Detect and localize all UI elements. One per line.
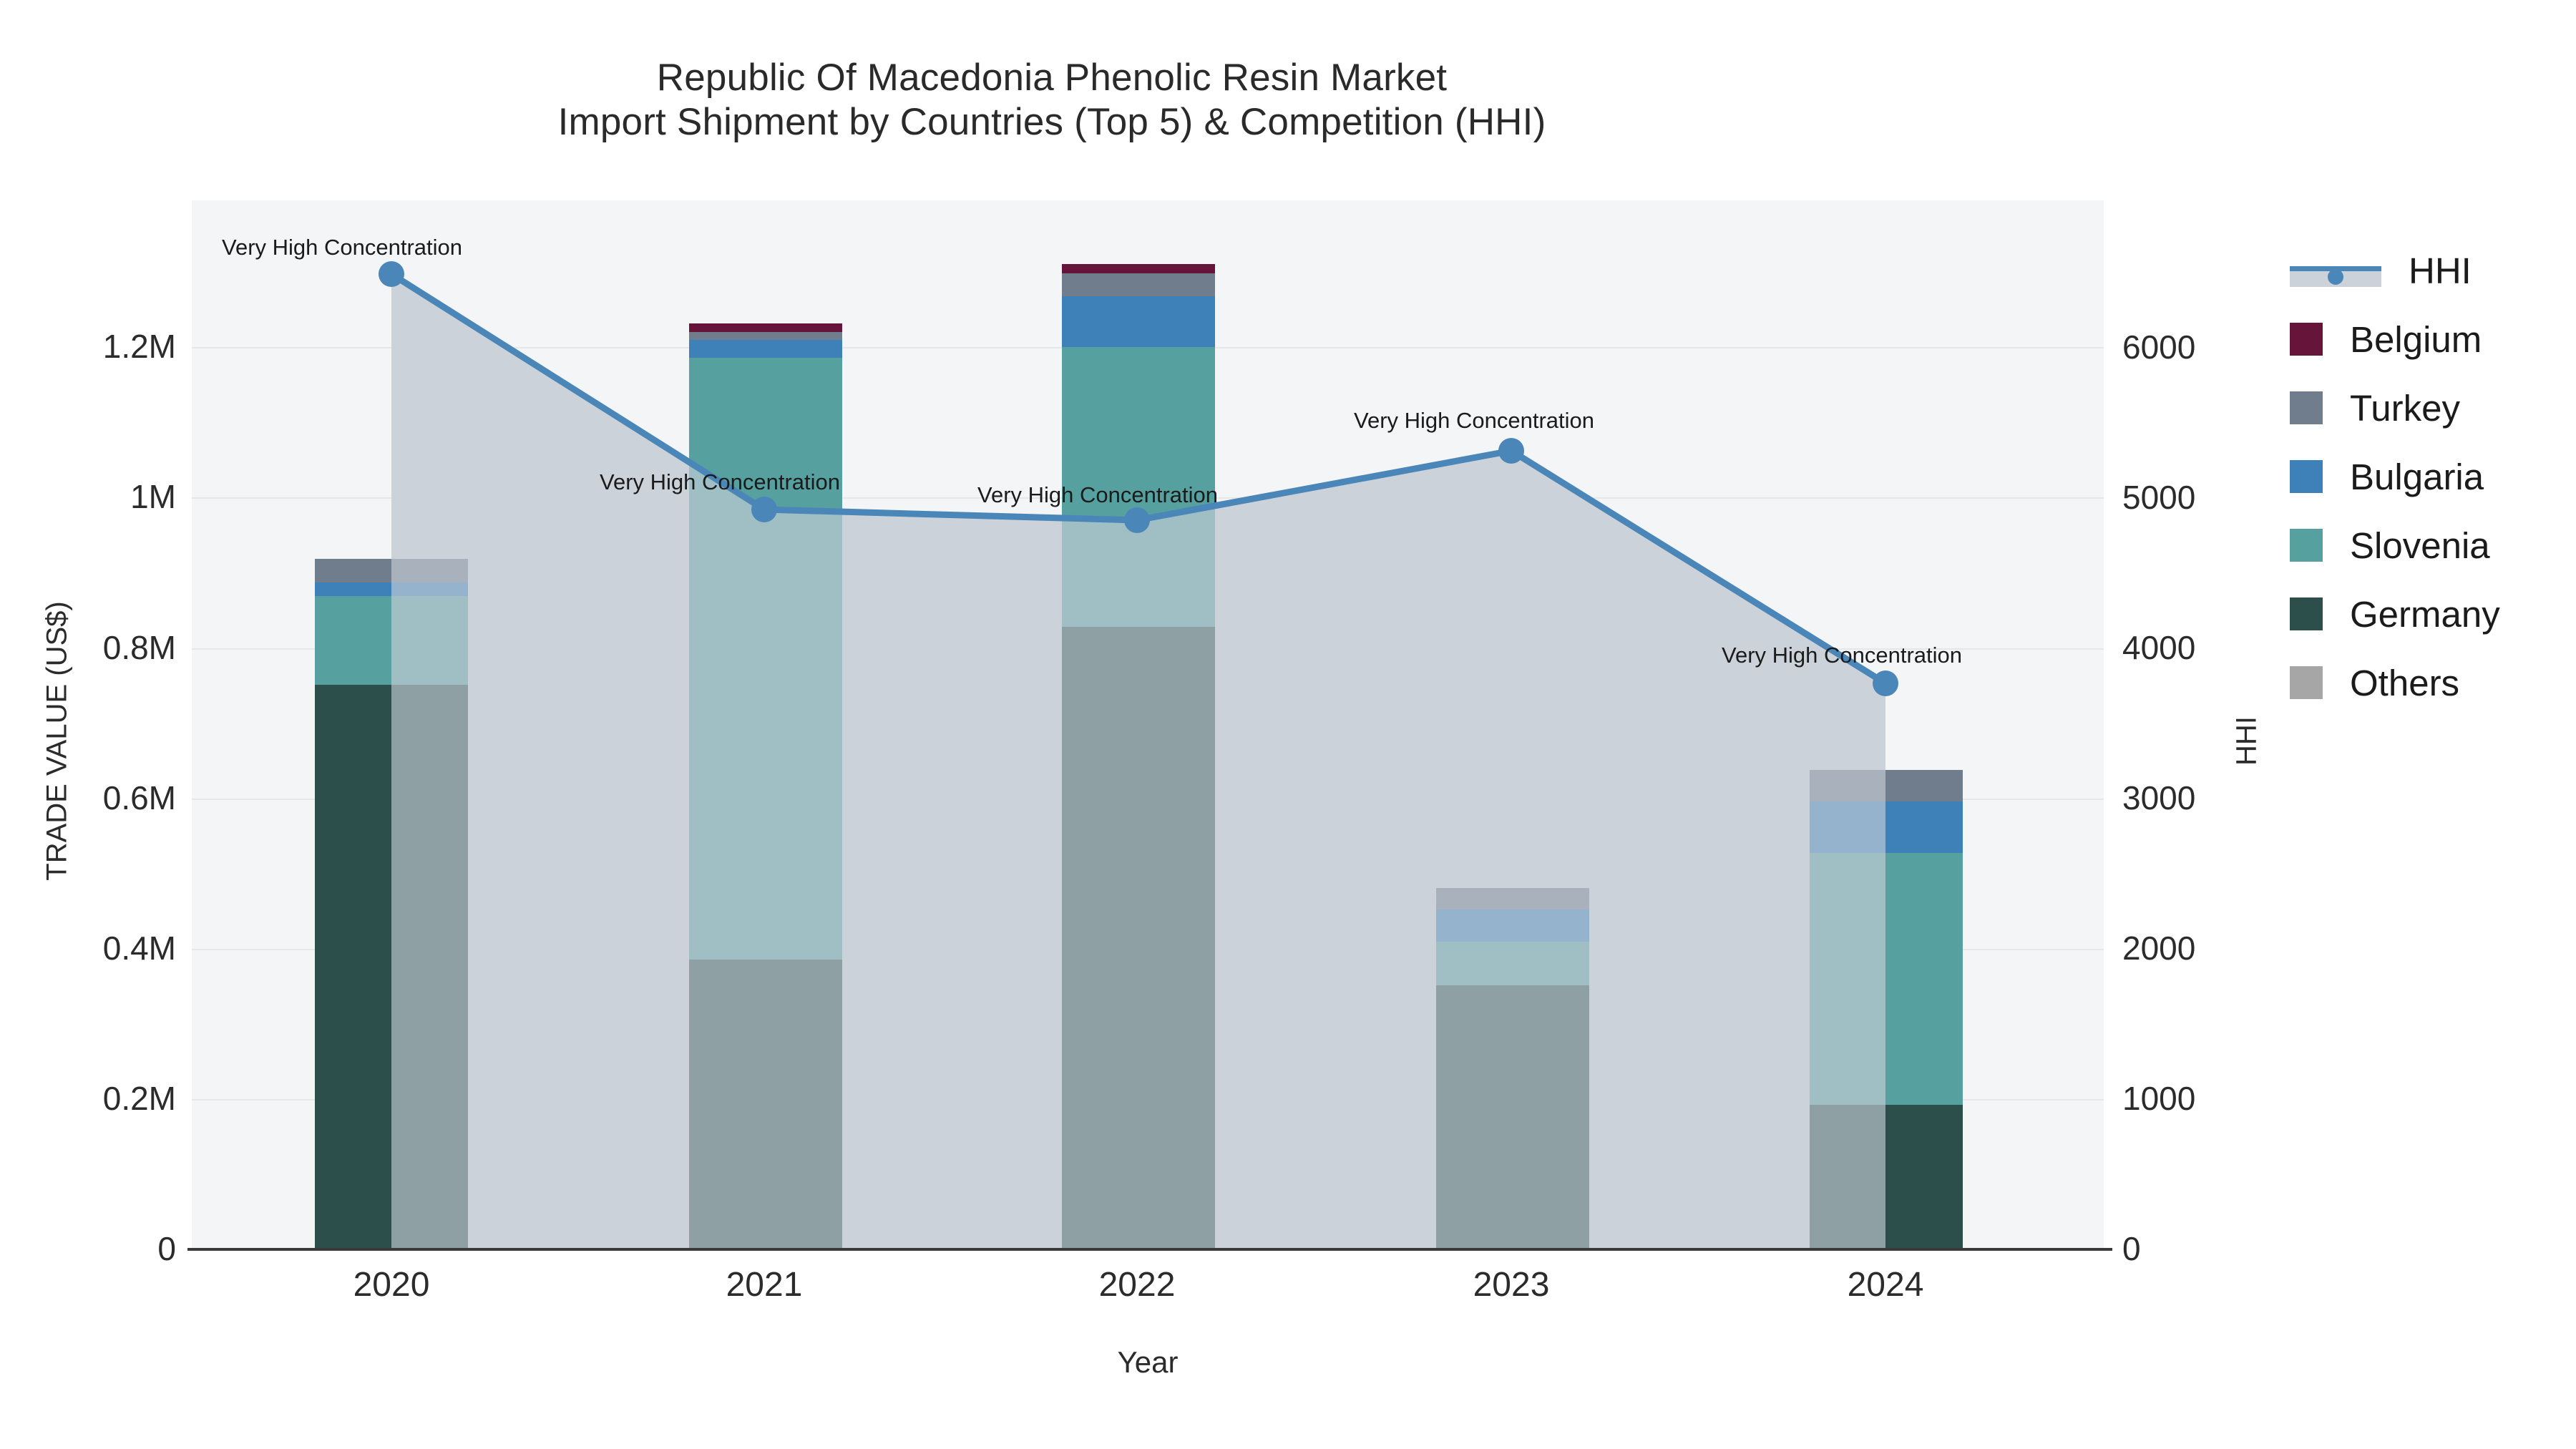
x-axis-line [187,1248,2112,1251]
annotation-2024: Very High Concentration [1722,643,1962,668]
bar-segment-turkey[interactable] [1810,770,1963,801]
bar-segment-germany[interactable] [1436,985,1589,1249]
y-tick-right-label: 3000 [2111,779,2195,817]
chart-title-block: Republic Of Macedonia Phenolic Resin Mar… [0,56,2104,145]
legend-line-key-icon [2290,254,2381,287]
legend-label: Others [2350,665,2459,701]
bar-group-2022[interactable] [1062,264,1215,1249]
y-axis-left-title: TRADE VALUE (US$) [42,591,74,892]
bar-segment-bulgaria[interactable] [689,340,842,358]
bar-segment-slovenia[interactable] [1436,942,1589,985]
y-tick-right-label: 0 [2111,1229,2141,1268]
annotation-2023: Very High Concentration [1354,408,1594,434]
bar-segment-turkey[interactable] [1062,273,1215,296]
bar-segment-belgium[interactable] [689,323,842,332]
bar-segment-bulgaria[interactable] [1436,909,1589,942]
y-axis-right-title-host: HHI [2225,200,2268,1249]
legend-item-others[interactable]: Others [2290,648,2500,717]
legend-label: Turkey [2350,390,2460,426]
y-tick-left-label: 0 [157,1229,187,1268]
y-axis-left-title-host: TRADE VALUE (US$) [21,200,64,1249]
y-tick-left-label: 1M [130,477,187,516]
bar-group-2021[interactable] [689,323,842,1249]
bar-group-2023[interactable] [1436,888,1589,1249]
legend-item-germany[interactable]: Germany [2290,580,2500,648]
bar-series-container [192,200,2104,1249]
y-tick-right-label: 1000 [2111,1079,2195,1118]
legend-swatch-icon [2290,391,2323,424]
legend-swatch-icon [2290,529,2323,562]
y-axis-right-ticks: 6000 5000 4000 3000 2000 1000 0 [2111,0,2326,1449]
chart-subtitle: Import Shipment by Countries (Top 5) & C… [0,100,2104,145]
annotation-2022: Very High Concentration [977,482,1218,508]
annotation-2021: Very High Concentration [600,469,840,495]
bar-segment-germany[interactable] [315,685,468,1249]
bar-segment-germany[interactable] [1810,1105,1963,1249]
x-tick-label: 2024 [1848,1265,1924,1304]
bar-group-2020[interactable] [315,559,468,1249]
x-axis-title: Year [192,1345,2104,1380]
legend-label: Germany [2350,596,2500,633]
bar-segment-slovenia[interactable] [689,358,842,960]
x-tick-label: 2020 [353,1265,430,1304]
bar-group-2024[interactable] [1810,770,1963,1249]
legend-label: Slovenia [2350,527,2490,564]
chart-figure: Republic Of Macedonia Phenolic Resin Mar… [0,0,2576,1449]
y-tick-right-label: 5000 [2111,478,2195,517]
y-tick-right-label: 4000 [2111,628,2195,667]
bar-segment-turkey[interactable] [689,332,842,340]
legend-swatch-icon [2290,460,2323,493]
bar-segment-bulgaria[interactable] [1062,296,1215,347]
y-tick-right-label: 2000 [2111,929,2195,967]
bar-segment-bulgaria[interactable] [1810,801,1963,853]
bar-segment-bulgaria[interactable] [315,582,468,596]
legend-swatch-icon [2290,597,2323,630]
legend-label: HHI [2409,253,2472,289]
bar-segment-germany[interactable] [689,960,842,1249]
bar-segment-slovenia[interactable] [1810,853,1963,1105]
x-tick-label: 2021 [726,1265,803,1304]
x-tick-label: 2022 [1099,1265,1176,1304]
legend-swatch-icon [2290,666,2323,699]
y-tick-left-label: 0.2M [103,1079,187,1118]
y-tick-left-label: 0.6M [103,779,187,817]
y-tick-left-label: 0.8M [103,628,187,667]
legend-label: Bulgaria [2350,459,2484,495]
legend-item-bulgaria[interactable]: Bulgaria [2290,442,2500,511]
bar-segment-germany[interactable] [1062,627,1215,1249]
bar-segment-slovenia[interactable] [315,596,468,685]
y-tick-left-label: 1.2M [103,327,187,366]
bar-segment-belgium[interactable] [1062,264,1215,273]
x-tick-label: 2023 [1473,1265,1550,1304]
legend-swatch-icon [2290,323,2323,356]
y-tick-left-label: 0.4M [103,929,187,967]
legend-item-hhi[interactable]: HHI [2290,236,2500,305]
bar-segment-turkey[interactable] [1436,888,1589,909]
y-axis-right-title: HHI [2231,591,2263,892]
legend-item-turkey[interactable]: Turkey [2290,374,2500,442]
chart-legend: HHI Belgium Turkey Bulgaria Slovenia Ger… [2290,236,2500,717]
bar-segment-turkey[interactable] [315,559,468,582]
legend-label: Belgium [2350,321,2482,358]
legend-item-slovenia[interactable]: Slovenia [2290,511,2500,580]
annotation-2020: Very High Concentration [222,235,462,260]
chart-title: Republic Of Macedonia Phenolic Resin Mar… [0,56,2104,100]
legend-item-belgium[interactable]: Belgium [2290,305,2500,374]
y-tick-right-label: 6000 [2111,328,2195,366]
